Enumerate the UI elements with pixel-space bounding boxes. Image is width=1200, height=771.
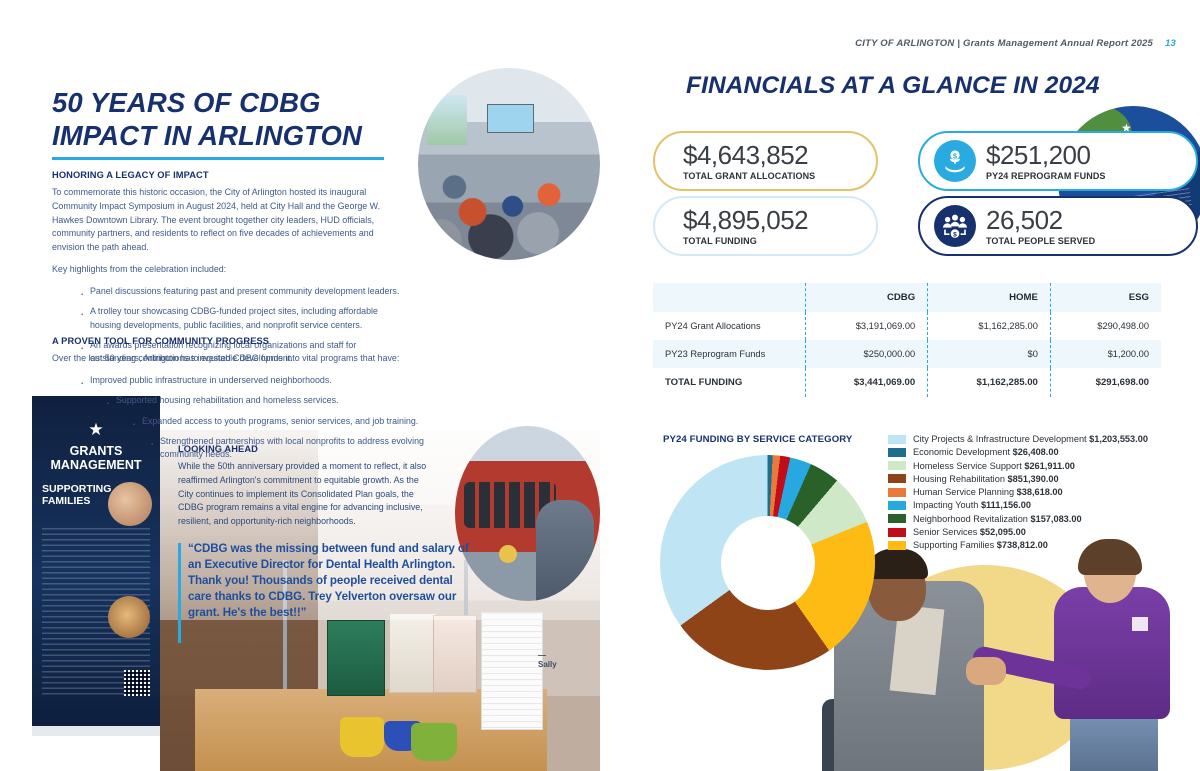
table-row: PY24 Grant Allocations $3,191,069.00 $1,… [653, 312, 1161, 340]
legend-item: Human Service Planning $38,618.00 [888, 487, 1188, 497]
chart-title: PY24 FUNDING BY SERVICE CATEGORY [663, 434, 852, 445]
people-money-icon: $ [934, 205, 976, 247]
stat-card-total-people-served: $ 26,502 TOTAL PEOPLE SERVED [918, 196, 1198, 256]
row-label: PY24 Grant Allocations [653, 312, 805, 340]
trolley-seal-icon [499, 545, 517, 563]
looking-ahead-heading: LOOKING AHEAD [178, 444, 428, 454]
column-header-home: HOME [928, 283, 1051, 312]
banner-photo-circle-hands [108, 482, 152, 526]
legend-label: City Projects & Infrastructure Developme… [913, 434, 1148, 444]
cell-home: $1,162,285.00 [928, 312, 1051, 340]
stat-label: TOTAL PEOPLE SERVED [986, 236, 1095, 246]
quote-attribution: — Sally [538, 651, 557, 669]
legacy-paragraph: To commemorate this historic occasion, t… [52, 186, 404, 255]
column-header-blank [653, 283, 805, 312]
symposium-audience-photo [418, 68, 600, 260]
quote-text: “CDBG was the missing between fund and s… [188, 541, 478, 621]
banner-stand [32, 726, 160, 736]
highlights-intro: Key highlights from the celebration incl… [52, 263, 404, 277]
quote-accent-bar [178, 543, 181, 643]
table-body: PY24 Grant Allocations $3,191,069.00 $1,… [653, 312, 1161, 397]
legend-value: $26,408.00 [1013, 447, 1059, 457]
book-item [389, 613, 437, 693]
legend-item: Supporting Families $738,812.00 [888, 540, 1188, 550]
banner-photo-circle-food [108, 596, 150, 638]
stat-label: PY24 REPROGRAM FUNDS [986, 171, 1106, 181]
page-title-line1: 50 YEARS OF CDBG [52, 87, 321, 118]
qr-code-icon [124, 670, 150, 696]
table-row-total: TOTAL FUNDING $3,441,069.00 $1,162,285.0… [653, 368, 1161, 397]
stat-label: TOTAL GRANT ALLOCATIONS [683, 171, 815, 181]
legend-item: City Projects & Infrastructure Developme… [888, 434, 1188, 444]
proven-tool-heading: A PROVEN TOOL FOR COMMUNITY PROGRESS [52, 336, 522, 346]
right-column: FINANCIALS AT A GLANCE IN 2024 ★ GRANTS … [600, 0, 1200, 771]
legend-label: Supporting Families $738,812.00 [913, 540, 1048, 550]
presentation-screen [487, 104, 534, 133]
financials-title: FINANCIALS AT A GLANCE IN 2024 [686, 72, 1166, 100]
funding-table: CDBG HOME ESG PY24 Grant Allocations $3,… [653, 283, 1161, 397]
handshake-photo [822, 530, 1200, 771]
legend-item: Homeless Service Support $261,911.00 [888, 461, 1188, 471]
legend-item: Housing Rehabilitation $851,390.00 [888, 474, 1188, 484]
legend-value: $738,812.00 [997, 540, 1048, 550]
list-item: A trolley tour showcasing CDBG-funded pr… [78, 305, 404, 332]
table-header-row: CDBG HOME ESG [653, 283, 1161, 312]
left-column: ★ GRANTS MANAGEMENT SUPPORTING FAMILIES [0, 0, 600, 771]
legend-item: Neighborhood Revitalization $157,083.00 [888, 514, 1188, 524]
looking-ahead-paragraph: While the 50th anniversary provided a mo… [178, 460, 428, 529]
banner-subtitle: SUPPORTING FAMILIES [42, 484, 111, 508]
legacy-heading: HONORING A LEGACY OF IMPACT [52, 170, 404, 180]
standing-woman-hoodie [1054, 587, 1170, 719]
legend-swatch [888, 488, 906, 497]
felt-bowl-green [411, 723, 457, 761]
legend-label: Housing Rehabilitation $851,390.00 [913, 474, 1059, 484]
stat-card-py24-reprogram-funds: $ $251,200 PY24 REPROGRAM FUNDS [918, 131, 1198, 191]
legend-item: Economic Development $26,408.00 [888, 447, 1188, 457]
cell-cdbg: $3,191,069.00 [805, 312, 928, 340]
room-window [427, 95, 467, 145]
legend-value: $52,095.00 [980, 527, 1026, 537]
legend-label: Human Service Planning $38,618.00 [913, 487, 1063, 497]
proven-tool-intro: Over the last 50 years, Arlington has in… [52, 352, 522, 366]
book-item [433, 615, 477, 693]
donut-center-hole [721, 516, 815, 610]
legend-value: $1,203,553.00 [1089, 434, 1148, 444]
legend-swatch [888, 435, 906, 444]
legend-item: Senior Services $52,095.00 [888, 527, 1188, 537]
legend-swatch [888, 448, 906, 457]
cell-home: $1,162,285.00 [928, 368, 1051, 397]
cell-cdbg: $250,000.00 [805, 340, 928, 368]
funding-donut-chart [660, 455, 875, 670]
legend-value: $261,911.00 [1024, 461, 1075, 471]
stat-value: $4,643,852 [683, 142, 815, 168]
legend-value: $111,156.00 [981, 500, 1031, 510]
cell-esg: $290,498.00 [1050, 312, 1161, 340]
stat-label: TOTAL FUNDING [683, 236, 808, 246]
stat-card-total-grant-allocations: $4,643,852 TOTAL GRANT ALLOCATIONS [653, 131, 878, 191]
printed-sheet [481, 612, 543, 730]
book-item [327, 620, 385, 696]
legend-swatch [888, 461, 906, 470]
list-item: Panel discussions featuring past and pre… [78, 285, 404, 298]
row-label: PY23 Reprogram Funds [653, 340, 805, 368]
chart-legend: City Projects & Infrastructure Developme… [888, 434, 1188, 554]
row-label: TOTAL FUNDING [653, 368, 805, 397]
stat-card-total-funding: $4,895,052 TOTAL FUNDING [653, 196, 878, 256]
page-title-line2: IMPACT IN ARLINGTON [52, 120, 362, 151]
report-page: CITY OF ARLINGTON | Grants Management An… [0, 0, 1200, 771]
looking-ahead-section: LOOKING AHEAD While the 50th anniversary… [178, 444, 428, 529]
list-item: Expanded access to youth programs, senio… [130, 415, 522, 428]
legend-swatch [888, 514, 906, 523]
hoodie-logo-icon [1132, 617, 1148, 631]
column-header-cdbg: CDBG [805, 283, 928, 312]
legend-label: Economic Development $26,408.00 [913, 447, 1059, 457]
cell-cdbg: $3,441,069.00 [805, 368, 928, 397]
table-header: CDBG HOME ESG [653, 283, 1161, 312]
legend-item: Impacting Youth $111,156.00 [888, 500, 1188, 510]
title-divider [52, 157, 384, 160]
hand-plant-money-icon: $ [934, 140, 976, 182]
stat-value: $4,895,052 [683, 207, 808, 233]
handshake-hands [966, 657, 1006, 685]
legend-label: Homeless Service Support $261,911.00 [913, 461, 1075, 471]
cell-home: $0 [928, 340, 1051, 368]
legend-swatch [888, 528, 906, 537]
trolley-visitor [536, 500, 594, 602]
legend-value: $38,618.00 [1017, 487, 1063, 497]
legend-swatch [888, 474, 906, 483]
svg-text:$: $ [953, 231, 957, 238]
legend-value: $851,390.00 [1008, 474, 1059, 484]
cell-esg: $1,200.00 [1050, 340, 1161, 368]
legend-label: Neighborhood Revitalization $157,083.00 [913, 514, 1082, 524]
legend-swatch [888, 541, 906, 550]
column-header-esg: ESG [1050, 283, 1161, 312]
stat-value: 26,502 [986, 207, 1095, 233]
list-item: Improved public infrastructure in unders… [78, 374, 522, 387]
felt-bowl-yellow [340, 717, 384, 757]
legend-label: Senior Services $52,095.00 [913, 527, 1026, 537]
testimonial-quote: “CDBG was the missing between fund and s… [178, 541, 478, 621]
page-title: 50 YEARS OF CDBG IMPACT IN ARLINGTON [52, 86, 392, 152]
legend-value: $157,083.00 [1030, 514, 1081, 524]
cell-esg: $291,698.00 [1050, 368, 1161, 397]
table-row: PY23 Reprogram Funds $250,000.00 $0 $1,2… [653, 340, 1161, 368]
legend-swatch [888, 501, 906, 510]
stat-value: $251,200 [986, 142, 1106, 168]
list-item: Supported housing rehabilitation and hom… [104, 394, 522, 407]
legend-label: Impacting Youth $111,156.00 [913, 500, 1031, 510]
